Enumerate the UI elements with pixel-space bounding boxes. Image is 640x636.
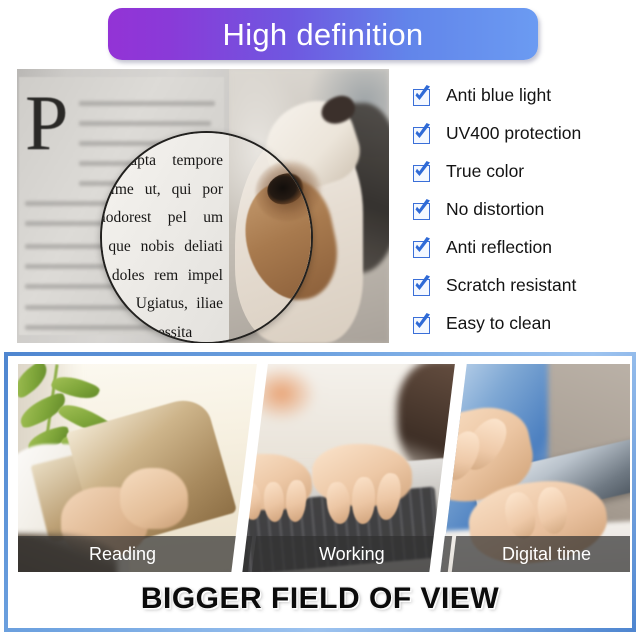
header-banner: High definition <box>108 8 538 60</box>
feature-label: No distortion <box>446 201 544 219</box>
magnifying-lens-overlay: otas eque volupta tempore nobitat Mescim… <box>100 131 313 343</box>
checkbox-checked-icon <box>413 87 432 106</box>
panel-caption-label: Reading <box>89 545 156 563</box>
feature-label: UV400 protection <box>446 125 581 143</box>
checkbox-checked-icon <box>413 201 432 220</box>
feature-item-anti-reflection: Anti reflection <box>413 229 633 267</box>
checkbox-checked-icon <box>413 239 432 258</box>
header-banner-area: High definition <box>0 0 640 66</box>
feature-label: True color <box>446 163 524 181</box>
checkbox-checked-icon <box>413 315 432 334</box>
bottom-section: Reading Working Digital time BIGGER FIEL… <box>4 352 636 632</box>
checkbox-checked-icon <box>413 163 432 182</box>
feature-list: Anti blue light UV400 protection True co… <box>413 77 633 343</box>
feature-item-true-color: True color <box>413 153 633 191</box>
panel-caption-working: Working <box>252 536 452 572</box>
checkbox-checked-icon <box>413 125 432 144</box>
feature-item-uv400-protection: UV400 protection <box>413 115 633 153</box>
panel-caption-label: Working <box>319 545 385 563</box>
sharp-page-text: otas eque volupta tempore nobitat Mescim… <box>100 147 223 343</box>
feature-item-no-distortion: No distortion <box>413 191 633 229</box>
feature-item-scratch-resistant: Scratch resistant <box>413 267 633 305</box>
feature-label: Anti blue light <box>446 87 551 105</box>
feature-label: Easy to clean <box>446 315 551 333</box>
lens-demonstration-photo: P ot <box>17 69 389 343</box>
top-section: P ot <box>0 66 640 351</box>
lifestyle-panels: Reading Working Digital time <box>18 364 630 572</box>
sharp-dog-region <box>229 131 313 343</box>
panel-caption-reading: Reading <box>18 536 252 572</box>
page-title: High definition <box>223 19 424 50</box>
feature-item-anti-blue-light: Anti blue light <box>413 77 633 115</box>
feature-label: Anti reflection <box>446 239 552 257</box>
checkbox-checked-icon <box>413 277 432 296</box>
feature-item-easy-to-clean: Easy to clean <box>413 305 633 343</box>
feature-label: Scratch resistant <box>446 277 576 295</box>
panel-caption-label: Digital time <box>502 545 591 563</box>
page-dropcap: P <box>25 91 68 155</box>
bigger-field-of-view-headline: BIGGER FIELD OF VIEW <box>8 584 632 614</box>
panel-caption-digital-time: Digital time <box>452 536 630 572</box>
